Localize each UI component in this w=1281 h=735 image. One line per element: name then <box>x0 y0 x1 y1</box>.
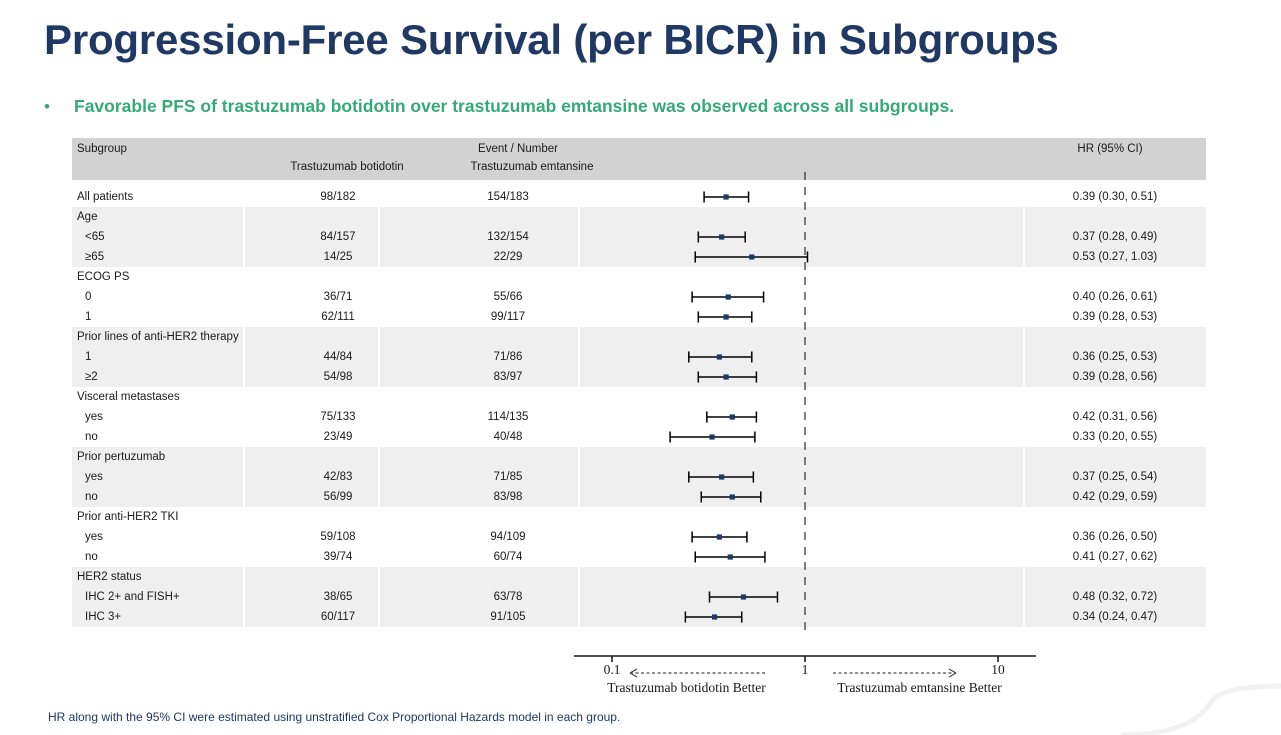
cell-arm-a: 23/49 <box>258 427 418 447</box>
cell-arm-b: 91/105 <box>428 607 588 627</box>
cell-arm-b: 55/66 <box>428 287 588 307</box>
cell-hr: 0.40 (0.26, 0.61) <box>1030 287 1200 307</box>
cell-arm-a: 62/111 <box>258 307 418 327</box>
table-row: 162/11199/1170.39 (0.28, 0.53) <box>72 307 1206 327</box>
x-axis-tick-label: 1 <box>802 662 809 678</box>
cell-hr: 0.42 (0.29, 0.59) <box>1030 487 1200 507</box>
table-row: no56/9983/980.42 (0.29, 0.59) <box>72 487 1206 507</box>
cell-arm-b: 40/48 <box>428 427 588 447</box>
page-title: Progression-Free Survival (per BICR) in … <box>44 16 1234 64</box>
forest-plot-table: Subgroup Event / Number Trastuzumab boti… <box>72 138 1206 648</box>
right-direction-arrow <box>833 669 956 677</box>
cell-arm-a: 14/25 <box>258 247 418 267</box>
cell-arm-a: 44/84 <box>258 347 418 367</box>
cell-arm-b: 154/183 <box>428 187 588 207</box>
table-row: no39/7460/740.41 (0.27, 0.62) <box>72 547 1206 567</box>
cell-hr: 0.39 (0.30, 0.51) <box>1030 187 1200 207</box>
column-header-arm-b: Trastuzumab emtansine <box>417 161 647 173</box>
table-row: IHC 2+ and FISH+38/6563/780.48 (0.32, 0.… <box>72 587 1206 607</box>
footnote: HR along with the 95% CI were estimated … <box>48 710 620 724</box>
cell-hr: 0.33 (0.20, 0.55) <box>1030 427 1200 447</box>
x-axis-tick-label: 10 <box>991 662 1005 678</box>
table-row: ≥6514/2522/290.53 (0.27, 1.03) <box>72 247 1206 267</box>
cell-hr: 0.39 (0.28, 0.53) <box>1030 307 1200 327</box>
cell-arm-b: 63/78 <box>428 587 588 607</box>
row-label: Prior lines of anti-HER2 therapy <box>77 327 307 347</box>
cell-arm-a: 60/117 <box>258 607 418 627</box>
cell-arm-a: 98/182 <box>258 187 418 207</box>
cell-arm-b: 71/85 <box>428 467 588 487</box>
table-row: yes42/8371/850.37 (0.25, 0.54) <box>72 467 1206 487</box>
table-row: All patients98/182154/1830.39 (0.30, 0.5… <box>72 187 1206 207</box>
row-label: Visceral metastases <box>77 387 307 407</box>
column-header-event-number: Event / Number <box>368 143 668 155</box>
cell-arm-b: 83/98 <box>428 487 588 507</box>
table-row: 144/8471/860.36 (0.25, 0.53) <box>72 347 1206 367</box>
key-message-bullet: • Favorable PFS of trastuzumab botidotin… <box>44 96 1244 117</box>
cell-arm-b: 114/135 <box>428 407 588 427</box>
cell-arm-b: 22/29 <box>428 247 588 267</box>
cell-hr: 0.53 (0.27, 1.03) <box>1030 247 1200 267</box>
cell-hr: 0.42 (0.31, 0.56) <box>1030 407 1200 427</box>
axis-line-and-ticks <box>72 648 1206 706</box>
cell-arm-b: 60/74 <box>428 547 588 567</box>
table-row: ≥254/9883/970.39 (0.28, 0.56) <box>72 367 1206 387</box>
cell-arm-b: 99/117 <box>428 307 588 327</box>
table-row: yes59/10894/1090.36 (0.26, 0.50) <box>72 527 1206 547</box>
subgroup-heading-row: ECOG PS <box>72 267 1206 287</box>
x-axis-tick-label: 0.1 <box>604 662 621 678</box>
cell-hr: 0.41 (0.27, 0.62) <box>1030 547 1200 567</box>
cell-hr: 0.37 (0.25, 0.54) <box>1030 467 1200 487</box>
table-row: yes75/133114/1350.42 (0.31, 0.56) <box>72 407 1206 427</box>
row-label: ECOG PS <box>77 267 307 287</box>
forest-plot-axis: 0.1110Trastuzumab botidotin BetterTrastu… <box>72 648 1206 706</box>
row-label: HER2 status <box>77 567 307 587</box>
subgroup-heading-row: Prior pertuzumab <box>72 447 1206 467</box>
cell-hr: 0.37 (0.28, 0.49) <box>1030 227 1200 247</box>
cell-arm-b: 132/154 <box>428 227 588 247</box>
cell-hr: 0.36 (0.25, 0.53) <box>1030 347 1200 367</box>
cell-arm-a: 56/99 <box>258 487 418 507</box>
subgroup-heading-row: HER2 status <box>72 567 1206 587</box>
left-direction-arrow <box>630 669 767 677</box>
cell-arm-a: 59/108 <box>258 527 418 547</box>
cell-arm-a: 75/133 <box>258 407 418 427</box>
left-better-label: Trastuzumab botidotin Better <box>607 680 766 696</box>
table-row: <6584/157132/1540.37 (0.28, 0.49) <box>72 227 1206 247</box>
column-header-hr: HR (95% CI) <box>1020 143 1200 155</box>
right-better-label: Trastuzumab emtansine Better <box>837 680 1001 696</box>
cell-hr: 0.34 (0.24, 0.47) <box>1030 607 1200 627</box>
cell-hr: 0.39 (0.28, 0.56) <box>1030 367 1200 387</box>
subgroup-heading-row: Visceral metastases <box>72 387 1206 407</box>
table-row: IHC 3+60/11791/1050.34 (0.24, 0.47) <box>72 607 1206 627</box>
cell-arm-a: 54/98 <box>258 367 418 387</box>
row-label: Prior anti-HER2 TKI <box>77 507 307 527</box>
table-header-band: Subgroup Event / Number Trastuzumab boti… <box>72 138 1206 180</box>
subgroup-heading-row: Prior lines of anti-HER2 therapy <box>72 327 1206 347</box>
subgroup-heading-row: Age <box>72 207 1206 227</box>
cell-arm-b: 83/97 <box>428 367 588 387</box>
cell-hr: 0.36 (0.26, 0.50) <box>1030 527 1200 547</box>
key-message-text: Favorable PFS of trastuzumab botidotin o… <box>74 96 954 117</box>
row-label: Age <box>77 207 307 227</box>
cell-arm-a: 42/83 <box>258 467 418 487</box>
row-label: Prior pertuzumab <box>77 447 307 467</box>
cell-arm-a: 39/74 <box>258 547 418 567</box>
cell-arm-a: 84/157 <box>258 227 418 247</box>
bullet-marker-icon: • <box>44 98 74 115</box>
cell-arm-b: 71/86 <box>428 347 588 367</box>
column-header-subgroup: Subgroup <box>77 143 127 155</box>
cell-arm-a: 38/65 <box>258 587 418 607</box>
table-row: no23/4940/480.33 (0.20, 0.55) <box>72 427 1206 447</box>
cell-hr: 0.48 (0.32, 0.72) <box>1030 587 1200 607</box>
subgroup-heading-row: Prior anti-HER2 TKI <box>72 507 1206 527</box>
cell-arm-b: 94/109 <box>428 527 588 547</box>
table-row: 036/7155/660.40 (0.26, 0.61) <box>72 287 1206 307</box>
cell-arm-a: 36/71 <box>258 287 418 307</box>
